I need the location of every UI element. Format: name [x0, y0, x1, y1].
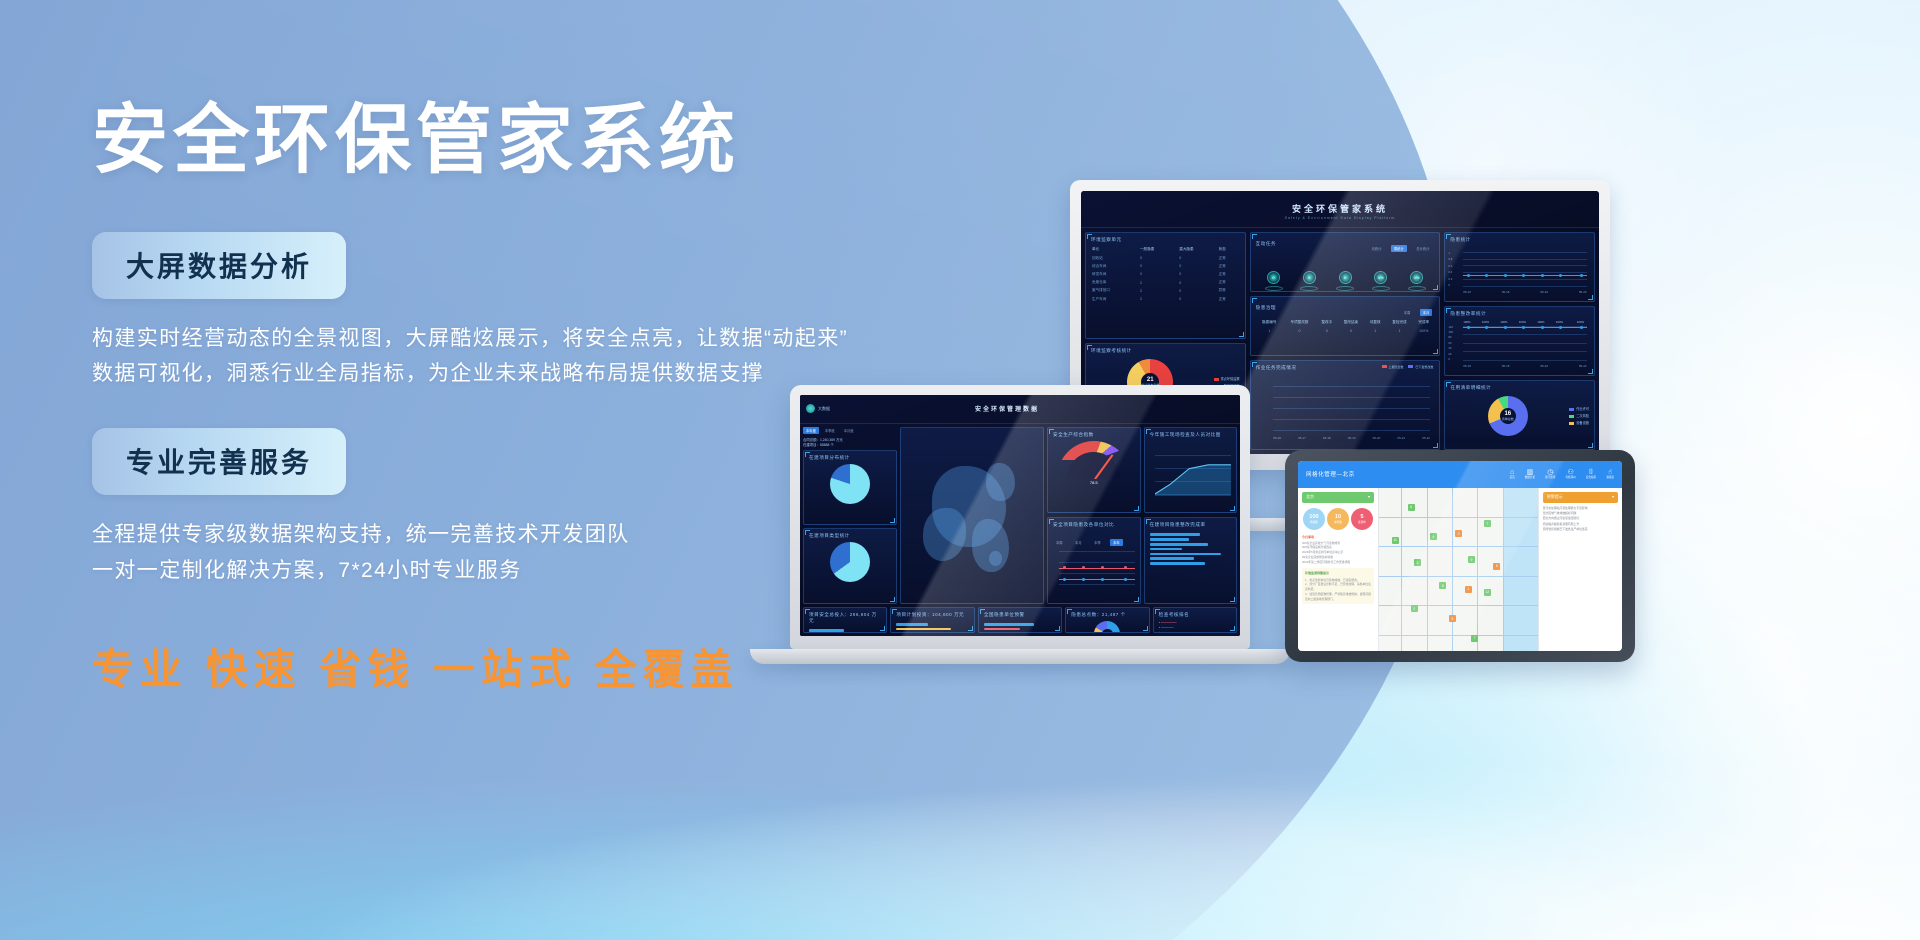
- panel-title: 在建项目分布统计: [809, 455, 891, 461]
- task-ring: 0在处理: [1300, 271, 1318, 292]
- panel-hazard-warning: 全国隐患单位预警: [978, 607, 1062, 633]
- chart-x-axis: 05-1605-18 05-2005-22: [1463, 290, 1586, 294]
- table-row: 危废仓库20正常: [1091, 279, 1240, 287]
- panel-title: 安全生产综合指数: [1053, 432, 1135, 438]
- panel-national-map: [900, 427, 1045, 604]
- chart-grid: [1463, 326, 1586, 360]
- dashboard-header: 安全环保管家系统 Safety & Environment Data Displ…: [1081, 191, 1599, 228]
- tablet-mockup: 网格化管理—北京 ⌂首页 ▥数据分析 ◷值守巡查 ⚇考核评价 ⌷应急指挥 ☝满意…: [1285, 450, 1635, 662]
- laptop-screen: 大数据 安全环保管理数据 本年度 本季度: [800, 395, 1240, 636]
- panel-task-completion: 作业任务完成情况 上报隐患数 已下发整改数 05: [1250, 360, 1441, 450]
- panel-tabs[interactable]: 本周 本月: [1401, 301, 1435, 319]
- chart-icon[interactable]: ▥数据分析: [1525, 469, 1535, 480]
- dashboard-title: 安全环保管家系统: [1292, 202, 1388, 215]
- panel-hazard-stats: 隐患统计 10.8 0.60.4 0.20: [1444, 232, 1595, 302]
- panel-title: 隐患治理: [1256, 305, 1276, 311]
- map-pin[interactable]: 2: [1455, 530, 1462, 537]
- ring-value: 0: [1267, 271, 1280, 284]
- badge-professional-service[interactable]: 专业完善服务: [92, 428, 346, 495]
- donut-chart: 16 清单总数: [1488, 396, 1528, 436]
- person-icon[interactable]: ⚇考核评价: [1565, 469, 1575, 480]
- chart-grid: [1463, 252, 1586, 286]
- area-chart: [1155, 457, 1231, 496]
- notice-title: 今日事项: [1302, 535, 1374, 540]
- logo-icon: [806, 404, 815, 413]
- map-pin[interactable]: 2: [1411, 605, 1418, 612]
- gauge-needle: [1094, 454, 1113, 479]
- ring-value: 0: [1303, 271, 1316, 284]
- map-pin[interactable]: 1: [1465, 586, 1472, 593]
- tab[interactable]: 本周: [1401, 309, 1414, 316]
- stat-circle: 10 事件数: [1327, 508, 1349, 530]
- column-header: 重大隐患: [1178, 246, 1217, 254]
- task-ring: 0%按时完成率: [1408, 271, 1426, 292]
- table-row: 10 00 11 100%: [1256, 327, 1435, 334]
- warning-select-value: 预警提示: [1547, 494, 1563, 500]
- legend-item: 设备设施: [1569, 420, 1589, 425]
- pie-chart: [830, 542, 870, 582]
- panel-hazard-governance: 隐患治理 本周 本月 隐患编号专项整改数: [1250, 296, 1441, 356]
- panel-title: 在用清单明细统计: [1450, 385, 1589, 391]
- chart-grid: [1273, 386, 1430, 430]
- paragraph-line: 构建实时经营动态的全景视图，大屏酷炫展示，将安全点亮，让数据“动起来”: [92, 321, 992, 357]
- map-pin[interactable]: 11: [1392, 537, 1399, 544]
- tablet-screen: 网格化管理—北京 ⌂首页 ▥数据分析 ◷值守巡查 ⚇考核评价 ⌷应急指挥 ☝满意…: [1298, 461, 1622, 651]
- tab[interactable]: 总计统计: [1413, 245, 1432, 252]
- chart-series: [1059, 579, 1135, 580]
- tips-title: 环境监测预警提示: [1305, 571, 1371, 576]
- laptop-dashboard-footer: 项目安全总投入：296,804 万元 项目计划投资：104,600 万元 全国隐: [800, 607, 1240, 636]
- laptop-base: [750, 649, 1290, 664]
- thumb-icon[interactable]: ☝满意度: [1606, 469, 1614, 480]
- logo-label: 大数据: [818, 406, 830, 412]
- chart-x-axis: 05-1605-17 05-1805-19 05-2005-21 05-22: [1273, 436, 1430, 440]
- panel-tabs[interactable]: 月统计 周统计 总计统计: [1369, 237, 1435, 255]
- table-header-row: 单元 一般隐患 重大隐患 状态: [1091, 246, 1240, 254]
- panel-environment-units: 环境监察单元 单元 一般隐患 重大隐患 状态 回收站00正常: [1085, 232, 1246, 339]
- warning-select[interactable]: 预警提示 ▾: [1543, 492, 1618, 503]
- table-row: 综合车间00正常: [1091, 262, 1240, 270]
- tab[interactable]: 本月: [1072, 539, 1085, 546]
- grid-map[interactable]: 6 11 4 2 7 3 9 5 8 1 12: [1379, 488, 1538, 651]
- panel-project-distribution: 在建项目分布统计: [803, 450, 897, 526]
- laptop-right-column: 今年施工现场检查及人员对比图 在建项目隐患整改完成率: [1144, 427, 1238, 604]
- chart-series: 100% 100% 100% 100% 100% 100% 100%: [1463, 327, 1586, 328]
- nav-label: 满意度: [1606, 477, 1614, 480]
- stat-circles: 100 网格数 10 事件数 5 处理中: [1302, 508, 1374, 530]
- ring-value: 0: [1339, 271, 1352, 284]
- tip-item: 2、部分厂区扬尘控制不足，已安排治理，请各单位注意防范。: [1305, 582, 1371, 592]
- summary-line: 在建项目：88888 个: [803, 442, 897, 447]
- stat-label: 网格数: [1310, 520, 1318, 524]
- nav-label: 首页: [1510, 477, 1515, 480]
- donut-chart: [1094, 621, 1120, 633]
- panel-title: 项目计划投资：104,600 万元: [896, 612, 968, 618]
- tab[interactable]: 月统计: [1369, 245, 1385, 252]
- laptop-dashboard: 大数据 安全环保管理数据 本年度 本季度: [800, 395, 1240, 636]
- gauge-value: 78.5: [1053, 480, 1135, 485]
- hazard-table: 隐患编号专项整改数 整改中整改结束 待复核复检完成 完成率 10 00: [1256, 319, 1435, 334]
- map-pin[interactable]: 12: [1484, 589, 1491, 596]
- dashboard-subtitle: Safety & Environment Data Display Platfo…: [1285, 216, 1396, 220]
- tablet-left-panel: 北京 ▾ 100 网格数 10: [1298, 488, 1379, 651]
- panel-planned-investment: 项目计划投资：104,600 万元: [890, 607, 974, 633]
- gauge-chart: [1057, 441, 1131, 479]
- chart-legend: 上报隐患数 已下发整改数: [1382, 365, 1434, 369]
- table-row: 研发车间00正常: [1091, 270, 1240, 278]
- nav-label: 值守巡查: [1545, 477, 1555, 480]
- region-select[interactable]: 北京 ▾: [1302, 492, 1374, 503]
- laptop-dashboard-title: 安全环保管理数据: [975, 404, 1039, 413]
- stat-circle: 100 网格数: [1303, 508, 1325, 530]
- panel-hazard-compare: 安全项目隐患及各单位对比 本周 本月 本季 本年: [1047, 517, 1141, 604]
- laptop-mockup: 大数据 安全环保管理数据 本年度 本季度: [790, 385, 1250, 664]
- environment-units-table: 单元 一般隐患 重大隐患 状态 回收站00正常 综合车间00正常 研发车间00正…: [1091, 246, 1240, 303]
- tips-block: 环境监测预警提示 1、重点监管单位污染物排放，已落实整改。 2、部分厂区扬尘控制…: [1302, 568, 1374, 604]
- tab[interactable]: 本周: [1053, 539, 1066, 546]
- legend-item: 二次风险: [1569, 413, 1589, 418]
- panel-site-inspection: 今年施工现场检查及人员对比图: [1144, 427, 1238, 514]
- ring-value: 0%: [1410, 271, 1423, 284]
- tablet-right-panel: 预警提示 ▾ 受污水处理站污泥处理能力不足影响 部分区域气体排放超标问题 西北方…: [1538, 488, 1622, 651]
- map-pin[interactable]: 6: [1408, 504, 1415, 511]
- panel-safety-investment: 项目安全总投入：296,804 万元: [803, 607, 887, 633]
- panel-hazard-points: 隐患总点数：21,487 个: [1065, 607, 1149, 633]
- home-icon[interactable]: ⌂首页: [1510, 469, 1515, 480]
- panel-rectification-completion: 在建项目隐患整改完成率: [1144, 517, 1238, 604]
- task-ring: 0未处理: [1336, 271, 1354, 292]
- chevron-down-icon: ▾: [1368, 494, 1370, 500]
- panel-title: 互动任务: [1256, 241, 1276, 247]
- task-rings: 0已完成 0在处理 0未处理 0%任务完成率 0%按时完成率: [1256, 255, 1435, 292]
- panel-active-list: 在用清单明细统计 16 清单总数: [1444, 380, 1595, 450]
- stat-label: 事件数: [1334, 520, 1342, 524]
- map-pin[interactable]: 5: [1493, 563, 1500, 570]
- notice-item: 2023年第二季度环保检查工作安排通知: [1302, 560, 1374, 565]
- chart-y-axis: 120100 8060 4020 0: [1448, 325, 1453, 362]
- legend-item: 上报隐患数: [1382, 365, 1404, 369]
- nav-label: 应急指挥: [1586, 477, 1596, 480]
- panel-ranking-list: 检查考核排名 ● ━━━━━━━━━━● ━━━━━━━━● ━━━━━━━━━…: [1153, 607, 1237, 633]
- map-pin[interactable]: 7: [1471, 635, 1478, 642]
- laptop-map-column: [900, 427, 1045, 604]
- panel-title: 项目安全总投入：296,804 万元: [809, 612, 881, 624]
- badge-data-analysis[interactable]: 大屏数据分析: [92, 232, 346, 299]
- dashboard-right-column: 隐患统计 10.8 0.60.4 0.20: [1444, 232, 1595, 450]
- panel-title: 全国隐患单位预警: [984, 612, 1056, 618]
- panel-title: 隐患统计: [1450, 237, 1589, 243]
- donut-legend: 作业许可 二次风险 设备设施: [1569, 406, 1589, 425]
- panel-rectification-rate: 隐患整改率统计 120100 8060 4020 0: [1444, 306, 1595, 376]
- column-header: 单元: [1091, 246, 1139, 254]
- chart-x-axis: 05-1605-18 05-2005-22: [1463, 364, 1586, 368]
- chart-series: [1463, 275, 1586, 276]
- task-ring: 0%任务完成率: [1372, 271, 1390, 292]
- notice-block: 今日事项 300家企业完成大气污染物排查 300家环保设施升级改造 2023年5…: [1302, 535, 1374, 565]
- dashboard-center-column: 互动任务 月统计 周统计 总计统计 0已完成: [1250, 232, 1441, 450]
- nav-label: 数据分析: [1525, 477, 1535, 480]
- stat-circle: 5 处理中: [1351, 508, 1373, 530]
- banner-stage: 安全环保管家系统 大屏数据分析 构建实时经营动态的全景视图，大屏酷炫展示，将安全…: [0, 0, 1920, 940]
- tab[interactable]: 本年: [1110, 539, 1123, 546]
- table-row: 回收站00正常: [1091, 254, 1240, 262]
- pie-chart: [830, 464, 870, 504]
- panel-title: 环境监察单元: [1091, 237, 1240, 243]
- laptop-center-column: 安全生产综合指数 78.5 安全项目隐患及各单位对比 本周 本月: [1047, 427, 1141, 604]
- panel-interactive-tasks: 互动任务 月统计 周统计 总计统计 0已完成: [1250, 232, 1441, 292]
- warning-item: 风险管控措施已下发各生产单位落实: [1543, 527, 1618, 532]
- china-map: [901, 428, 1044, 603]
- legend-item: 已下发整改数: [1408, 365, 1433, 369]
- tab[interactable]: 本月: [1420, 309, 1433, 316]
- ring-value: 0%: [1374, 271, 1387, 284]
- tab-row[interactable]: 本年度 本季度 本月度: [803, 427, 897, 434]
- column-header: 状态: [1218, 246, 1240, 254]
- map-pin[interactable]: 7: [1484, 520, 1491, 527]
- ranking-items: ● ━━━━━━━━━━● ━━━━━━━━● ━━━━━━━━━━ ● ━━━…: [1159, 621, 1231, 633]
- tab[interactable]: 本年度: [803, 427, 819, 434]
- map-pin[interactable]: 3: [1414, 559, 1421, 566]
- table-row: 废气排放口20异常: [1091, 287, 1240, 295]
- panel-title: 在建项目隐患整改完成率: [1150, 522, 1232, 528]
- panel-title: 今年施工现场检查及人员对比图: [1150, 432, 1232, 438]
- tab[interactable]: 本季度: [822, 427, 838, 434]
- laptop-left-column: 本年度 本季度 本月度 合同总额：1,240,369 万元 在建项目：88888…: [803, 427, 897, 604]
- stat-label: 处理中: [1358, 520, 1366, 524]
- legend-item: 重点环保监察: [1214, 376, 1240, 381]
- panel-title: 隐患整改率统计: [1450, 311, 1589, 317]
- tablet-nav[interactable]: ⌂首页 ▥数据分析 ◷值守巡查 ⚇考核评价 ⌷应急指挥 ☝满意度: [1510, 469, 1614, 480]
- tab[interactable]: 本季: [1091, 539, 1104, 546]
- panel-title: 检查考核排名: [1159, 612, 1231, 618]
- panel-safety-index: 安全生产综合指数 78.5: [1047, 427, 1141, 514]
- legend-item: 作业许可: [1569, 406, 1589, 411]
- table-row: 生产车间20正常: [1091, 295, 1240, 303]
- tip-item: 3、加强危险废物管理，严禁随意堆放倾倒，发现问题及时上报属地管理部门。: [1305, 592, 1371, 602]
- panel-title: 安全项目隐患及各单位对比: [1053, 522, 1135, 528]
- panel-project-type: 在建项目类型统计: [803, 528, 897, 604]
- panel-tabs[interactable]: 本周 本月 本季 本年: [1053, 531, 1135, 549]
- laptop-dashboard-header: 大数据 安全环保管理数据: [800, 395, 1240, 424]
- map-pin[interactable]: 9: [1468, 556, 1475, 563]
- map-pin[interactable]: 4: [1430, 533, 1437, 540]
- donut-label: 清单总数: [1502, 417, 1514, 421]
- tablet-body: 网格化管理—北京 ⌂首页 ▥数据分析 ◷值守巡查 ⚇考核评价 ⌷应急指挥 ☝满意…: [1285, 450, 1635, 662]
- laptop-bezel: 大数据 安全环保管理数据 本年度 本季度: [790, 385, 1250, 649]
- table-header-row: 隐患编号专项整改数 整改中整改结束 待复核复检完成 完成率: [1256, 319, 1435, 327]
- paragraph-data-analysis: 构建实时经营动态的全景视图，大屏酷炫展示，将安全点亮，让数据“动起来” 数据可视…: [92, 321, 992, 392]
- tablet-header: 网格化管理—北京 ⌂首页 ▥数据分析 ◷值守巡查 ⚇考核评价 ⌷应急指挥 ☝满意…: [1298, 461, 1622, 488]
- map-water: [1503, 488, 1538, 651]
- panel-title: 在建项目类型统计: [809, 533, 891, 539]
- map-pin[interactable]: 8: [1439, 582, 1446, 589]
- chart-series: [1059, 568, 1135, 569]
- map-pin[interactable]: 3: [1449, 615, 1456, 622]
- tablet-app: 网格化管理—北京 ⌂首页 ▥数据分析 ◷值守巡查 ⚇考核评价 ⌷应急指挥 ☝满意…: [1298, 461, 1622, 651]
- task-ring: 0已完成: [1265, 271, 1283, 292]
- chevron-down-icon: ▾: [1612, 494, 1614, 500]
- alert-icon[interactable]: ⌷应急指挥: [1586, 469, 1596, 480]
- warning-list: 受污水处理站污泥处理能力不足影响 部分区域气体排放超标问题 西北方向扬尘污染需加…: [1543, 506, 1618, 533]
- column-header: 一般隐患: [1139, 246, 1178, 254]
- laptop-dashboard-body: 本年度 本季度 本月度 合同总额：1,240,369 万元 在建项目：88888…: [800, 424, 1240, 607]
- clock-icon[interactable]: ◷值守巡查: [1545, 469, 1555, 480]
- laptop-kpi-block: 本年度 本季度 本月度 合同总额：1,240,369 万元 在建项目：88888…: [803, 427, 897, 447]
- tablet-content: 北京 ▾ 100 网格数 10: [1298, 488, 1622, 651]
- chart-y-axis: 10.8 0.60.4 0.20: [1448, 251, 1452, 288]
- nav-label: 考核评价: [1565, 477, 1575, 480]
- tab[interactable]: 本月度: [841, 427, 857, 434]
- region-select-value: 北京: [1306, 494, 1314, 500]
- device-mockups: 安全环保管家系统 Safety & Environment Data Displ…: [890, 150, 1920, 830]
- page-title: 安全环保管家系统: [92, 96, 992, 186]
- tab[interactable]: 周统计: [1391, 245, 1407, 252]
- panel-title: 环境监察考核统计: [1091, 348, 1240, 354]
- panel-title: 隐患总点数：21,487 个: [1071, 612, 1143, 618]
- horizontal-bars: [1150, 531, 1232, 564]
- app-title: 网格化管理—北京: [1306, 470, 1355, 478]
